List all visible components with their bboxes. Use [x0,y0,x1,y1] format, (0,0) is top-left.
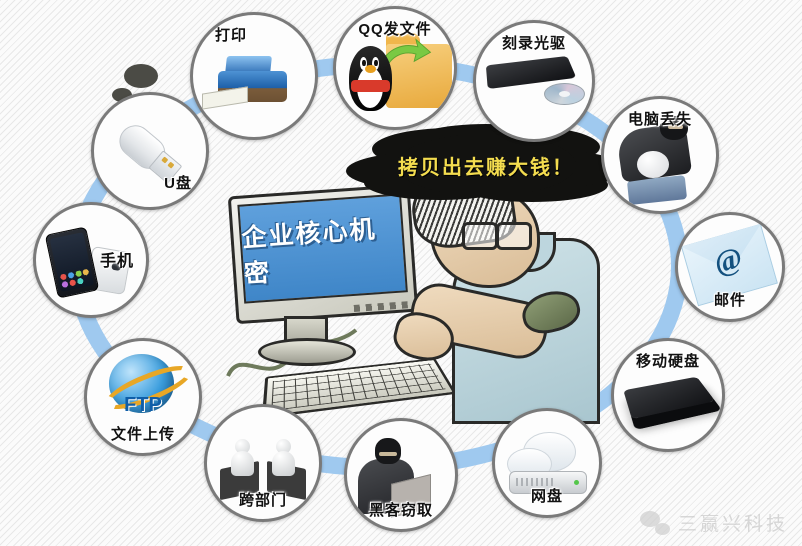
node-cross-department-label: 跨部门 [207,489,319,510]
node-qq-send-file[interactable]: QQ发文件 [333,6,457,130]
monitor-screen: 企业核心机密 [237,193,408,303]
node-hacker-theft[interactable]: 黑客窃取 [344,418,458,532]
node-cloud-disk-label: 网盘 [495,485,599,506]
computer-monitor: 企业核心机密 [228,184,418,324]
node-print[interactable]: 打印 [190,12,318,140]
node-print-label: 打印 [193,24,315,45]
node-cloud-disk[interactable]: 网盘 [492,408,602,518]
worker-glasses-left [462,222,498,250]
node-qq-send-file-label: QQ发文件 [336,18,454,39]
watermark: 三赢兴科技 [640,509,788,536]
node-file-upload-label: 文件上传 [87,423,199,444]
node-usb-drive[interactable]: U盘 [91,92,209,210]
thought-bubble-text: 拷贝出去赚大钱！ [396,134,576,196]
node-mobile-phone[interactable]: 手机 [33,202,149,318]
ftp-badge: FTP [87,394,199,417]
node-hacker-theft-label: 黑客窃取 [347,499,455,520]
thought-bubble: 拷贝出去赚大钱！ [396,134,576,196]
node-external-hdd-label: 移动硬盘 [614,350,722,371]
worker-glasses-right [496,222,532,250]
node-cross-department[interactable]: 跨部门 [204,404,322,522]
thought-bubble-tail-large [124,64,158,88]
node-usb-drive-label: U盘 [94,172,206,193]
monitor-stand-base [258,338,356,366]
node-email-label: 邮件 [678,289,782,310]
monitor-screen-text: 企业核心机密 [239,196,405,302]
infographic-canvas: 企业核心机密 拷贝出去赚大钱！ [0,0,802,546]
wechat-icon [640,511,670,535]
node-mobile-phone-label: 手机 [36,247,146,271]
node-file-upload[interactable]: FTP 文件上传 [84,338,202,456]
node-external-hdd[interactable]: 移动硬盘 [611,338,725,452]
node-disc-burner-label: 刻录光驱 [476,32,592,53]
node-lost-computer[interactable]: 电脑丢失 [601,96,719,214]
node-lost-computer-label: 电脑丢失 [604,108,716,129]
node-email[interactable]: @ 邮件 [675,212,785,322]
watermark-text: 三赢兴科技 [678,509,788,536]
node-disc-burner[interactable]: 刻录光驱 [473,20,595,142]
